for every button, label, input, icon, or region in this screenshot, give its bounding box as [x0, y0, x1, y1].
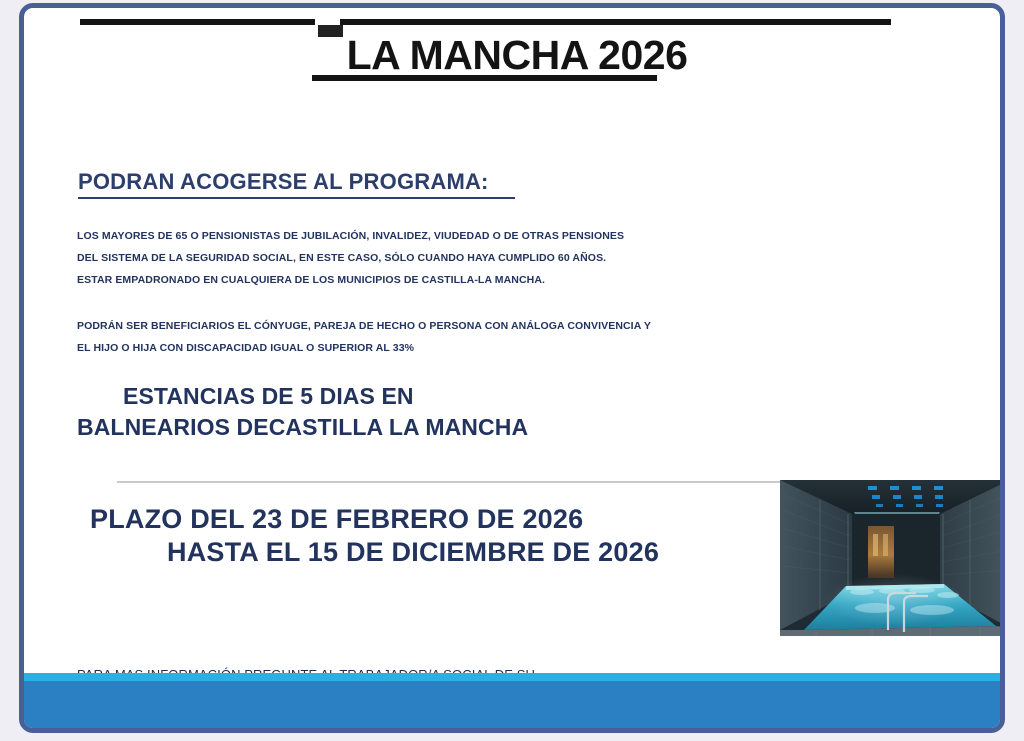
spa-pool-illustration	[780, 480, 1005, 636]
beneficiaries-line-1: PODRÁN SER BENEFICIARIOS EL CÓNYUGE, PAR…	[77, 315, 651, 337]
stay-statement: ESTANCIAS DE 5 DIAS EN BALNEARIOS DECAST…	[77, 381, 528, 443]
section-heading: PODRAN ACOGERSE AL PROGRAMA:	[78, 169, 489, 195]
beneficiaries-line-2: EL HIJO O HIJA CON DISCAPACIDAD IGUAL O …	[77, 337, 651, 359]
page-title-underline	[312, 75, 657, 81]
top-rule-right	[340, 19, 891, 25]
bottom-cyan-stripe	[24, 673, 1005, 681]
stay-statement-line-2: BALNEARIOS DECASTILLA LA MANCHA	[77, 412, 528, 443]
deadline-line-1: PLAZO DEL 23 DE FEBRERO DE 2026	[77, 503, 659, 536]
top-rule-left	[80, 19, 315, 25]
poster-frame: LA MANCHA 2026 PODRAN ACOGERSE AL PROGRA…	[19, 3, 1005, 733]
eligibility-line-1: LOS MAYORES DE 65 O PENSIONISTAS DE JUBI…	[77, 225, 624, 247]
stay-statement-line-1: ESTANCIAS DE 5 DIAS EN	[77, 381, 528, 412]
horizontal-divider	[117, 481, 781, 483]
section-heading-underline	[78, 197, 515, 199]
eligibility-line-3: ESTAR EMPADRONADO EN CUALQUIERA DE LOS M…	[77, 269, 624, 291]
eligibility-paragraph: LOS MAYORES DE 65 O PENSIONISTAS DE JUBI…	[77, 225, 624, 291]
deadline-block: PLAZO DEL 23 DE FEBRERO DE 2026 HASTA EL…	[77, 503, 659, 569]
beneficiaries-paragraph: PODRÁN SER BENEFICIARIOS EL CÓNYUGE, PAR…	[77, 315, 651, 359]
eligibility-line-2: DEL SISTEMA DE LA SEGURIDAD SOCIAL, EN E…	[77, 247, 624, 269]
page-title: LA MANCHA 2026	[24, 32, 1005, 79]
bottom-blue-band	[24, 681, 1005, 728]
spa-pool-photo	[780, 480, 1005, 636]
deadline-line-2: HASTA EL 15 DE DICIEMBRE DE 2026	[77, 536, 659, 569]
